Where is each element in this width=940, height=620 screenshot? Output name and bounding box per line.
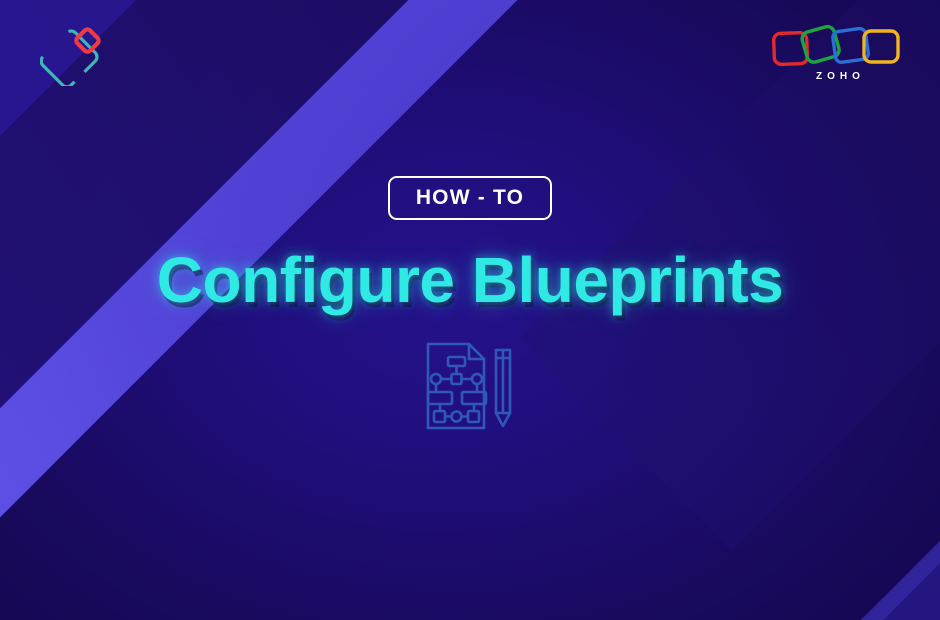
flow-node-center [452,374,462,384]
flow-node-top [448,357,465,366]
banner-content: HOW - TO Configure Blueprints [0,0,940,432]
flow-node-left-circle [431,374,441,384]
flow-node-bottom-right [468,411,479,422]
howto-banner: ZOHO HOW - TO Configure Blueprints [0,0,940,620]
flow-box-right [462,392,486,404]
flow-node-bottom-circle [452,412,462,422]
flow-node-right-circle [472,374,482,384]
flow-node-bottom-left [434,411,445,422]
page-title: Configure Blueprints [157,248,783,312]
blueprint-document-pencil-icon [422,340,518,432]
howto-badge: HOW - TO [388,176,552,220]
flow-box-left [428,392,452,404]
